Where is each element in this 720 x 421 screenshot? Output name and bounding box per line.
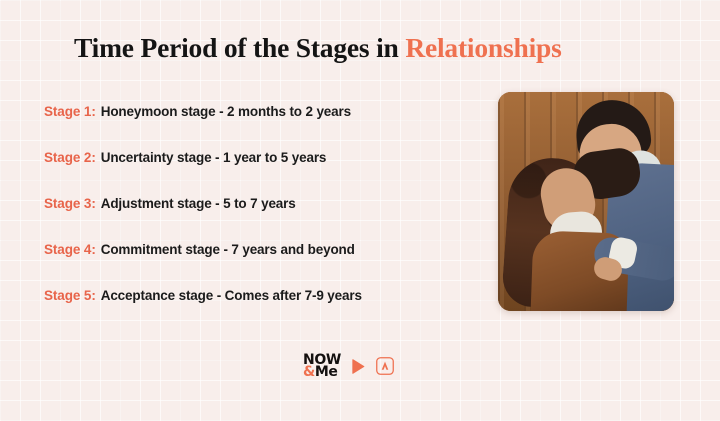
stage-text-2: Uncertainty stage - 1 year to 5 years: [101, 150, 327, 165]
stage-list: Stage 1: Honeymoon stage - 2 months to 2…: [44, 104, 484, 334]
list-item: Stage 1: Honeymoon stage - 2 months to 2…: [44, 104, 484, 150]
stage-text-3: Adjustment stage - 5 to 7 years: [101, 196, 296, 211]
list-item: Stage 2: Uncertainty stage - 1 year to 5…: [44, 150, 484, 196]
stage-text-5: Acceptance stage - Comes after 7-9 years: [101, 288, 362, 303]
stage-label-3: Stage 3:: [44, 196, 96, 211]
logo-line-and-me: &Me: [303, 366, 341, 378]
list-item: Stage 4: Commitment stage - 7 years and …: [44, 242, 484, 288]
list-item: Stage 3: Adjustment stage - 5 to 7 years: [44, 196, 484, 242]
brand-footer: NOW &Me: [303, 354, 394, 378]
page-title-accent: Relationships: [405, 32, 561, 63]
stage-label-5: Stage 5:: [44, 288, 96, 303]
stage-text-1: Honeymoon stage - 2 months to 2 years: [101, 104, 351, 119]
logo-me: Me: [315, 364, 338, 380]
couple-photo: [498, 92, 674, 311]
stage-text-4: Commitment stage - 7 years and beyond: [101, 242, 355, 257]
stage-label-1: Stage 1:: [44, 104, 96, 119]
now-and-me-logo: NOW &Me: [303, 354, 341, 378]
page-title: Time Period of the Stages in Relationshi…: [74, 33, 562, 63]
stage-label-2: Stage 2:: [44, 150, 96, 165]
stage-label-4: Stage 4:: [44, 242, 96, 257]
photo-wooden-backdrop: [498, 92, 674, 311]
page-title-plain: Time Period of the Stages in: [74, 32, 405, 63]
logo-ampersand: &: [303, 364, 315, 380]
infographic-canvas: Time Period of the Stages in Relationshi…: [0, 0, 720, 421]
list-item: Stage 5: Acceptance stage - Comes after …: [44, 288, 484, 334]
app-store-icon[interactable]: [376, 357, 394, 375]
google-play-icon[interactable]: [350, 358, 367, 375]
